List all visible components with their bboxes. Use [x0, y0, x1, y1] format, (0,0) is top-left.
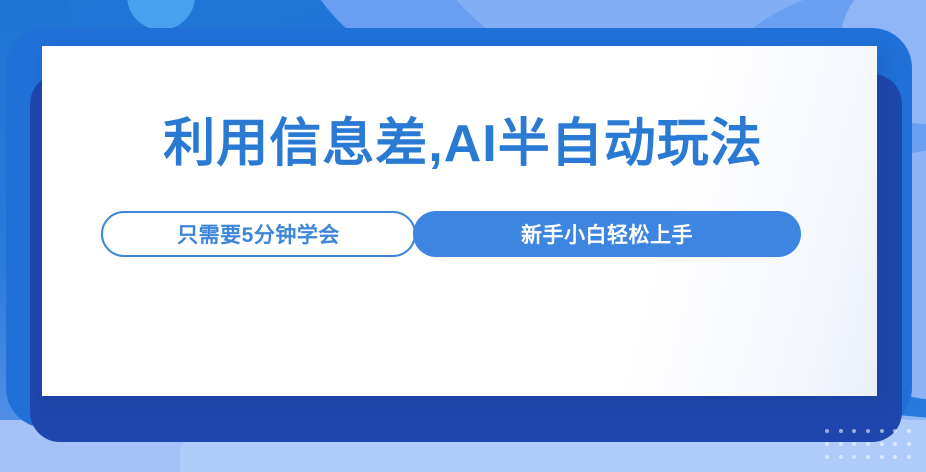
pill-badge-beginner-friendly: 新手小白轻松上手 [413, 211, 801, 257]
dot [880, 455, 884, 459]
dot [839, 442, 843, 446]
dot [880, 442, 884, 446]
dot [893, 442, 897, 446]
dot [825, 442, 829, 446]
dot [907, 429, 911, 433]
dot [893, 455, 897, 459]
dot [839, 455, 843, 459]
dot [866, 429, 870, 433]
dot [893, 429, 897, 433]
decorative-dot-grid-icon [820, 424, 916, 464]
dot [866, 442, 870, 446]
dot [852, 429, 856, 433]
page-title: 利用信息差,AI半自动玩法 [0, 118, 926, 170]
dot [852, 442, 856, 446]
dot [852, 455, 856, 459]
dot [825, 455, 829, 459]
dot [866, 455, 870, 459]
promo-banner: 利用信息差,AI半自动玩法 只需要5分钟学会 新手小白轻松上手 [0, 0, 926, 472]
subtitle-pill-row: 只需要5分钟学会 新手小白轻松上手 [101, 211, 801, 257]
dot [907, 442, 911, 446]
dot [839, 429, 843, 433]
dot [825, 429, 829, 433]
pill-badge-duration: 只需要5分钟学会 [101, 211, 416, 257]
dot [907, 455, 911, 459]
dot [880, 429, 884, 433]
